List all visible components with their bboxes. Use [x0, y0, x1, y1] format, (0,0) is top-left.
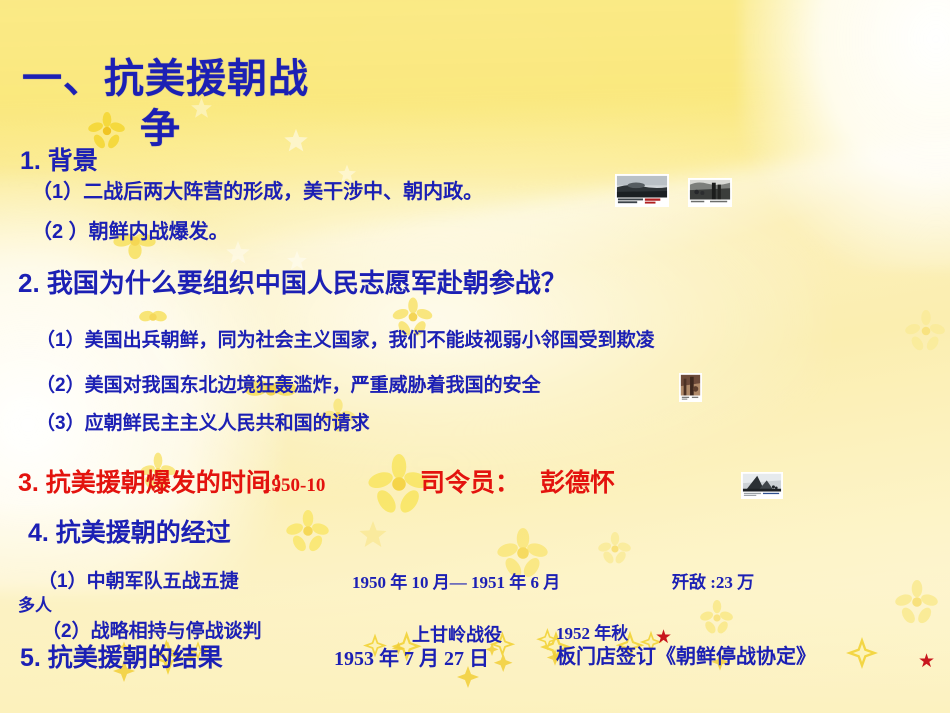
section-3-commander-label: 司令员： — [420, 470, 520, 496]
section-2-item-1: （1）美国出兵朝鲜，同为社会主义国家，我们不能歧视弱小邻国受到欺凌 — [36, 331, 655, 351]
section-4-heading: 4. 抗美援朝的经过 — [28, 520, 231, 546]
section-2-item-2: （2）美国对我国东北边境狂轰滥炸，严重威胁着我国的安全 — [36, 376, 541, 396]
photo-korean-war-scene — [688, 178, 732, 207]
section-1-item-2: （2 ）朝鲜内战爆发。 — [32, 222, 229, 243]
star-marker-1: ★ — [655, 628, 672, 647]
photo-bombing-northeast-border — [679, 373, 702, 402]
section-1-item-1: （1）二战后两大阵营的形成，美干涉中、朝内政。 — [32, 182, 483, 203]
page-title-line-1: 一、抗美援朝战 — [22, 58, 309, 100]
section-2-heading: 2. 我国为什么要组织中国人民志愿军赴朝参战？ — [18, 270, 567, 297]
section-4-item-2-time: 1952 年秋 — [556, 625, 628, 643]
section-4-item-1-wrap: 多人 — [18, 597, 52, 615]
section-4-item-2-battle: 上甘岭战役 — [412, 626, 502, 645]
photo-us-fleet-taiwan-strait — [615, 174, 669, 207]
section-5-date: 1953 年 7 月 27 日 — [334, 649, 489, 670]
section-5-heading: 5. 抗美援朝的结果 — [20, 645, 223, 671]
section-3-heading: 3. 抗美援朝爆发的时间： — [18, 470, 296, 496]
section-4-item-1-period: 1950 年 10 月— 1951 年 6 月 — [352, 574, 560, 592]
section-5-event: 板门店签订《朝鲜停战协定》 — [556, 647, 816, 668]
section-4-item-2-label: （2）战略相持与停战谈判 — [42, 622, 262, 642]
star-marker-2: ★ — [918, 652, 935, 671]
section-1-heading: 1. 背景 — [20, 148, 98, 174]
section-3-date: 1950-10 — [262, 476, 325, 496]
section-2-item-3: （3）应朝鲜民主主义人民共和国的请求 — [36, 414, 370, 434]
section-4-item-1-label: （1）中朝军队五战五捷 — [38, 572, 239, 592]
photo-peng-dehuai-troops — [741, 472, 783, 499]
page-title-line-2: 争 — [140, 108, 181, 150]
section-4-item-1-casualties: 歼敌 :23 万 — [672, 574, 754, 592]
section-3-commander-name: 彭德怀 — [540, 470, 615, 496]
slide-canvas: 一、抗美援朝战 争 1. 背景 （1）二战后两大阵营的形成，美干涉中、朝内政。 — [0, 0, 950, 713]
